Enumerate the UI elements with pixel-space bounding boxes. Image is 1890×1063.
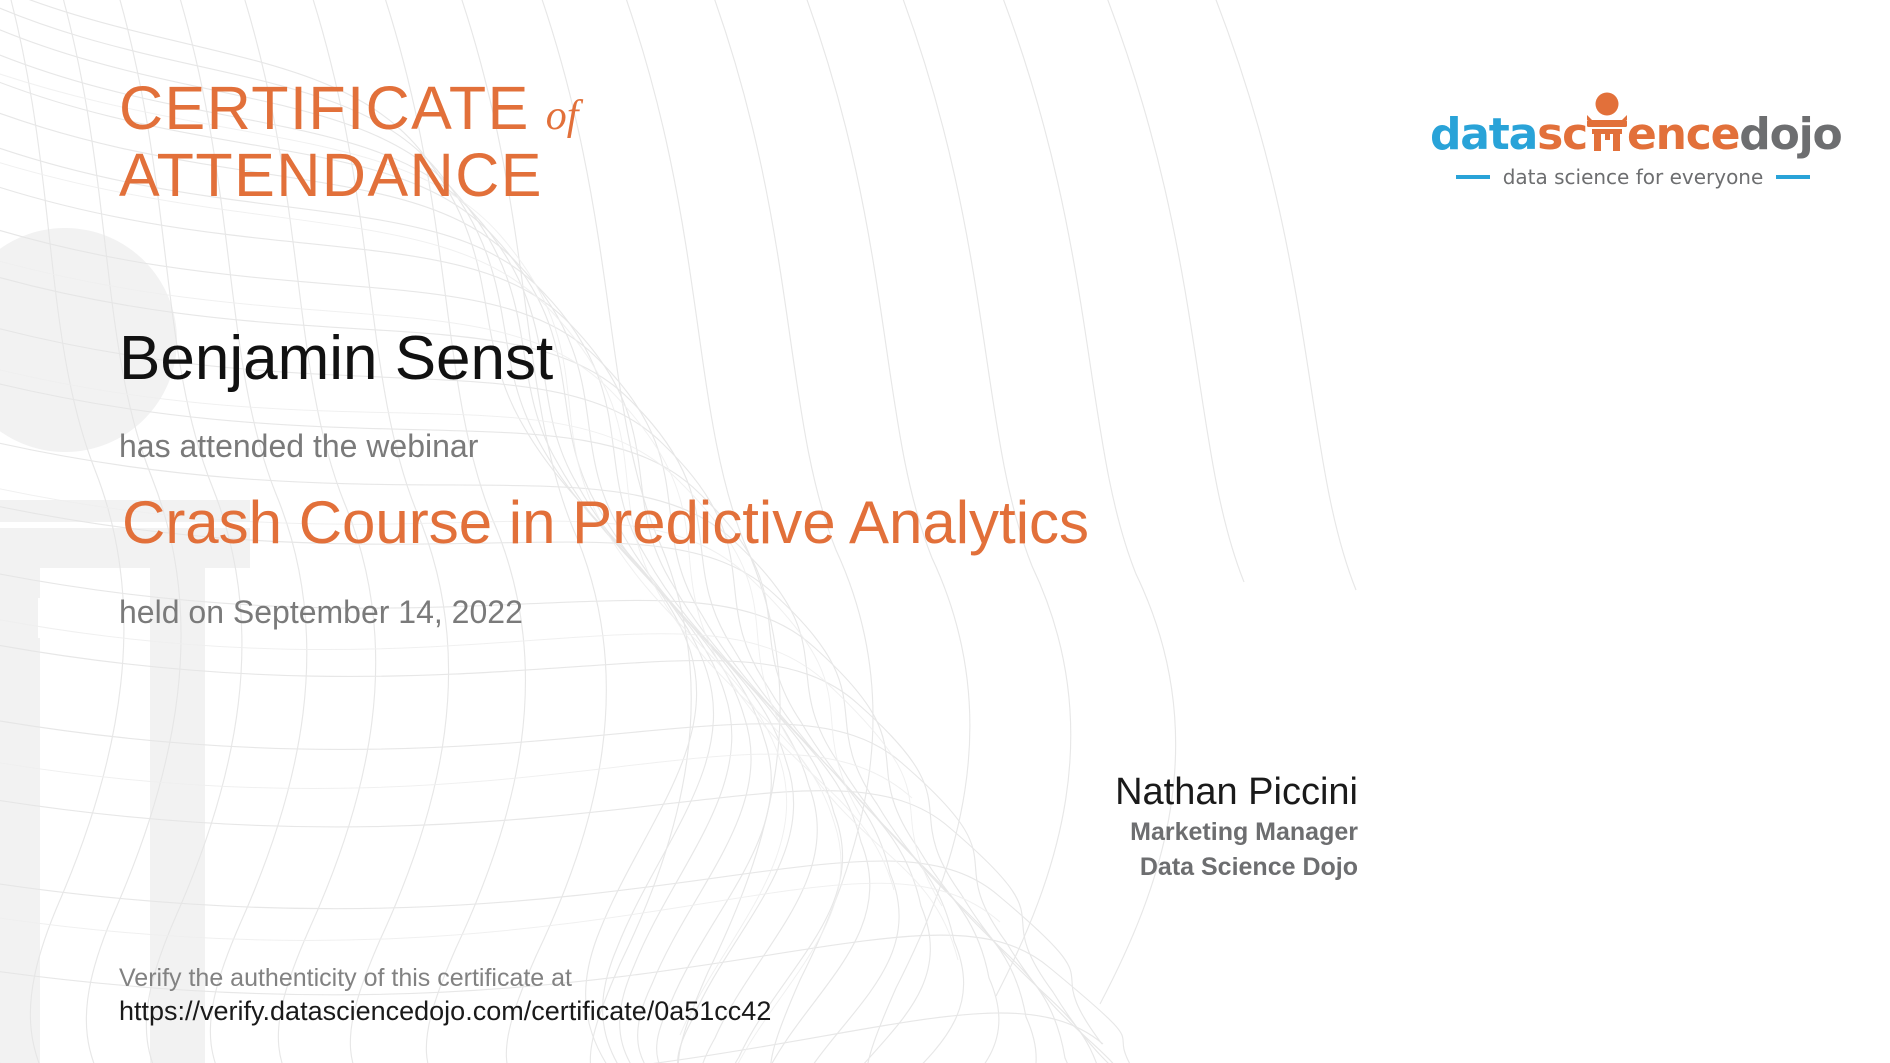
verification-block: Verify the authenticity of this certific…: [119, 962, 771, 1029]
certificate-page: CERTIFICATEof ATTENDANCE datascencedojo …: [0, 0, 1890, 1063]
signatory-role: Marketing Manager: [898, 815, 1358, 851]
tagline-dash-right-icon: [1776, 175, 1810, 179]
certificate-heading: CERTIFICATEof ATTENDANCE: [119, 78, 578, 206]
logo-segment-dojo: dojo: [1739, 109, 1841, 160]
tagline-text: data science for everyone: [1503, 165, 1764, 189]
datasciencedojo-logo: datascencedojo data science for everyone: [1430, 112, 1836, 189]
logo-segment-ence: ence: [1627, 109, 1739, 160]
certificate-heading-line-2: ATTENDANCE: [119, 145, 578, 206]
logo-wordmark: datascencedojo: [1430, 112, 1836, 158]
certificate-word: CERTIFICATE: [119, 74, 530, 142]
wavy-mesh-secondary: [0, 60, 1000, 1063]
logo-tagline: data science for everyone: [1430, 165, 1836, 189]
tagline-dash-left-icon: [1456, 175, 1490, 179]
recipient-name: Benjamin Senst: [119, 323, 553, 394]
verification-label: Verify the authenticity of this certific…: [119, 962, 771, 994]
logo-segment-sc: sc: [1537, 109, 1587, 160]
verification-url[interactable]: https://verify.datasciencedojo.com/certi…: [119, 994, 771, 1029]
signatory-name: Nathan Piccini: [898, 770, 1358, 815]
signature-block: Nathan Piccini Marketing Manager Data Sc…: [898, 770, 1358, 886]
held-on-date: held on September 14, 2022: [119, 594, 523, 631]
certificate-heading-line-1: CERTIFICATEof: [119, 78, 578, 139]
torii-gate-icon: [1587, 148, 1627, 149]
logo-segment-data: data: [1430, 109, 1537, 160]
course-title: Crash Course in Predictive Analytics: [122, 488, 1089, 557]
signatory-organization: Data Science Dojo: [898, 850, 1358, 886]
certificate-word-of: of: [546, 93, 579, 139]
attended-statement: has attended the webinar: [119, 428, 478, 465]
